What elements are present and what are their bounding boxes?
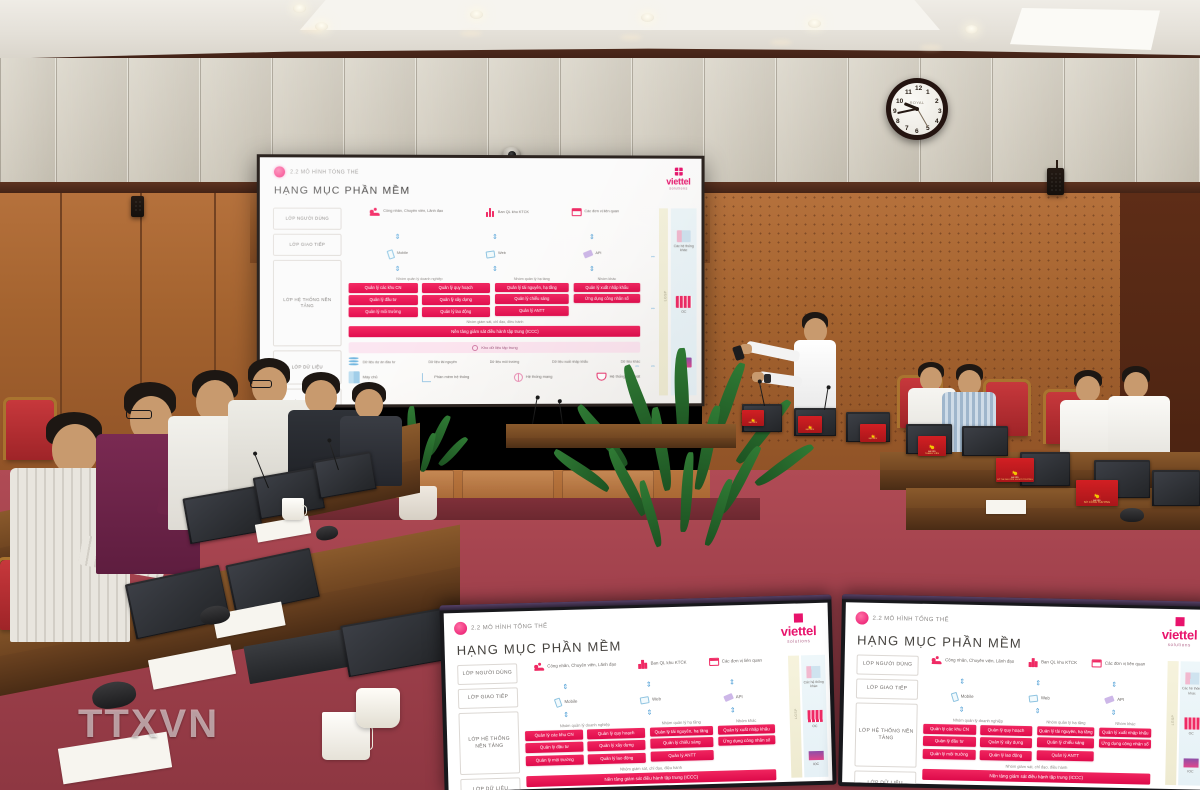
coffee-cup <box>282 498 304 520</box>
nameplate-label: THÀNH VIÊN <box>925 453 939 455</box>
window-icon <box>572 208 582 216</box>
interface-item: API <box>1105 697 1124 704</box>
group-other: Nhóm khác Quản lý xuất nhập khẩu Ứng dụn… <box>574 277 641 319</box>
layer-data: LỚP DỮ LIỆU <box>460 777 521 790</box>
module-chip[interactable]: Quản lý quy hoạch <box>587 728 645 740</box>
module-chip[interactable]: Quản lý xuất nhập khẩu <box>574 283 641 291</box>
module-chip[interactable]: Ứng dụng công nhân số <box>718 736 775 747</box>
double-arrow-icon: ⇕ <box>589 234 595 242</box>
module-chip[interactable]: Quản lý chiếu sáng <box>650 737 713 749</box>
oc-icon <box>807 710 822 722</box>
eyeglasses-icon <box>250 380 272 388</box>
module-chip[interactable]: Quản lý đầu tư <box>525 742 583 754</box>
double-arrow-icon: ⇕ <box>1035 680 1041 688</box>
slide-kicker: 2.2 MÔ HÌNH TỔNG THỂ <box>274 166 359 177</box>
user-actor: Các đơn vị liên quan <box>709 657 762 666</box>
api-icon <box>1104 695 1115 704</box>
group-caption: Nhóm khác <box>1099 721 1151 727</box>
viettel-wordmark: viettel <box>781 623 817 639</box>
network-icon <box>514 372 523 381</box>
viettel-mark-icon <box>675 168 683 176</box>
module-chip[interactable]: Quản lý lao động <box>588 753 646 765</box>
user-layer-row: Công nhân, Chuyên viên, Lãnh đạo Ban QL … <box>349 208 641 234</box>
double-arrow-icon: ⇕ <box>1035 708 1041 716</box>
module-chip[interactable]: Quản lý ANTT <box>495 306 569 316</box>
people-icon <box>534 663 544 671</box>
group-caption: Nhóm khác <box>718 717 775 724</box>
bar-chart-icon <box>638 660 647 669</box>
mobile-icon <box>554 697 563 707</box>
monitor-slide: 2.2 MÔ HÌNH TỔNG THỂ HẠNG MỤC PHẦN MỀM v… <box>444 603 833 790</box>
group-caption: Nhóm quản lý hạ tầng <box>495 277 569 281</box>
user-actor-label: Các đơn vị liên quan <box>722 657 762 664</box>
api-icon <box>723 693 734 702</box>
module-chip[interactable]: Quản lý đầu tư <box>349 295 418 305</box>
emblem-icon <box>751 418 756 423</box>
beam-reflection <box>460 31 482 36</box>
emblem-icon <box>808 425 813 430</box>
module-chip[interactable]: Ứng dụng công nhân số <box>1099 739 1151 749</box>
double-arrow-icon: ⇕ <box>492 234 498 242</box>
lgsp-label: LGSP <box>1171 715 1175 726</box>
ioc-icon <box>808 750 823 759</box>
lgsp-label: LGSP <box>794 708 798 719</box>
downlight <box>470 10 483 19</box>
user-actor: Ban QL khu KTCK <box>1029 658 1077 668</box>
data-item: Dữ liệu tài nguyên <box>428 360 456 364</box>
nameplate: ĐẠI BIỂU SỞ CÔNG THƯƠNG <box>1076 480 1118 506</box>
double-arrow-icon: ⇕ <box>395 266 401 274</box>
attendee-head <box>1076 376 1100 402</box>
monitor-slide: 2.2 MÔ HÌNH TỔNG THỂ HẠNG MỤC PHẦN MỀM v… <box>842 602 1200 790</box>
viettel-mark-icon <box>794 613 803 622</box>
foreground-monitor-left: 2.2 MÔ HÌNH TỔNG THỂ HẠNG MỤC PHẦN MỀM v… <box>439 595 836 790</box>
wall-clock: ROYAL 12 1 2 3 4 5 6 7 8 9 10 11 <box>886 78 948 140</box>
module-chip[interactable]: Ứng dụng công nhân số <box>574 294 641 303</box>
user-actor: Công nhân, Chuyên viên, Lãnh đạo <box>932 656 1014 666</box>
oc-icon <box>1184 718 1199 730</box>
attendee <box>1108 366 1174 464</box>
module-chip[interactable]: Quản lý lao động <box>421 307 490 317</box>
layer-user: LỚP NGƯỜI DÙNG <box>457 663 518 685</box>
external-system: OC <box>1184 718 1199 737</box>
double-arrow-icon: ⇔ <box>650 306 656 312</box>
external-label: IOC <box>808 761 823 766</box>
slide-kicker-text: 2.2 MÔ HÌNH TỔNG THỂ <box>471 623 548 631</box>
nameplate: ĐẠI BIỂU <box>860 424 886 442</box>
interface-label: Web <box>498 251 506 256</box>
interface-label: API <box>1117 697 1124 703</box>
user-actor-label: Các đơn vị liên quan <box>1105 661 1145 668</box>
emblem-icon <box>871 434 876 439</box>
external-system: OC <box>676 296 692 315</box>
group-caption: Nhóm khác <box>574 277 641 281</box>
external-system: Các hệ thống khác <box>801 666 826 690</box>
double-arrow-icon: ⇕ <box>563 712 569 720</box>
window-icon <box>1092 659 1102 667</box>
nameplate: ĐẠI BIỂU <box>742 410 764 426</box>
teapot <box>356 688 400 728</box>
interface-label: API <box>736 694 743 700</box>
head-table-front <box>506 438 736 448</box>
bullet-dot-icon <box>855 611 868 624</box>
external-label: Các hệ thống khác <box>671 244 697 253</box>
wall-speaker <box>131 196 144 217</box>
user-actor: Ban QL khu KTCK <box>486 208 529 217</box>
interface-item: API <box>724 694 743 701</box>
presenter-watch <box>764 374 771 383</box>
database-circle-icon <box>472 345 478 351</box>
user-actor-label: Công nhân, Chuyên viên, Lãnh đạo <box>547 662 616 670</box>
foreground-monitor-right: 2.2 MÔ HÌNH TỔNG THỂ HẠNG MỤC PHẦN MỀM v… <box>838 594 1200 790</box>
emblem-icon <box>1012 470 1019 477</box>
double-arrow-icon: ⇕ <box>729 679 735 687</box>
connector-arrows-mid: ⇕ ⇕ ⇕ <box>349 266 641 274</box>
external-label: Các hệ thống khác <box>802 680 826 690</box>
agency-watermark: TTXVN <box>78 702 219 747</box>
module-chip[interactable]: Quản lý xuất nhập khẩu <box>718 724 775 735</box>
double-arrow-icon: ⇕ <box>730 707 736 715</box>
eyeglasses-icon <box>126 410 152 419</box>
external-system: IOC <box>808 750 823 766</box>
external-system: Các hệ thống khác <box>1180 672 1200 696</box>
data-item: Dữ liệu xuất nhập khẩu <box>552 359 588 363</box>
layer-user: LỚP NGƯỜI DÙNG <box>273 208 342 230</box>
group-caption: Nhóm quản lý hạ tầng <box>1037 719 1094 725</box>
external-system: OC <box>807 710 823 729</box>
laptop[interactable] <box>1152 470 1200 508</box>
nameplate: ĐẠI BIỂU THÀNH VIÊN <box>918 436 946 456</box>
conference-room-photo: ROYAL 12 1 2 3 4 5 6 7 8 9 10 11 <box>0 0 1200 790</box>
external-system: Các hệ thống khác <box>671 230 697 253</box>
downlight <box>641 13 654 22</box>
double-arrow-icon: ⇕ <box>959 707 965 715</box>
slide-kicker-text: 2.2 MÔ HÌNH TỔNG THỂ <box>290 169 359 175</box>
data-item: Dữ liệu môi trường <box>490 359 519 363</box>
downlight <box>965 25 978 34</box>
viettel-tagline: solutions <box>781 638 817 644</box>
slide-kicker: 2.2 MÔ HÌNH TỔNG THỂ <box>855 611 949 626</box>
downlight <box>293 4 306 13</box>
user-actor-label: Ban QL khu KTCK <box>650 660 686 667</box>
mobile-icon <box>950 691 958 701</box>
interface-label: Mobile <box>397 251 408 256</box>
external-label: IOC <box>1183 770 1198 775</box>
lgsp-label: LGSP <box>663 291 667 302</box>
people-icon <box>370 208 380 216</box>
group-caption: Nhóm quản lý doanh nghiệp <box>923 717 1032 724</box>
viettel-wordmark: viettel <box>666 177 690 187</box>
external-label: OC <box>676 310 692 315</box>
infra-label: Máy chủ <box>363 375 378 381</box>
data-warehouse-label: Kho dữ liệu tập trung <box>481 345 517 350</box>
user-actor: Công nhân, Chuyên viên, Lãnh đạo <box>370 208 443 216</box>
system-software-icon <box>422 373 431 382</box>
module-chip[interactable]: Quản lý lao động <box>979 750 1032 761</box>
module-chip[interactable]: Quản lý các khu CN <box>349 283 418 293</box>
interface-item: Mobile <box>952 692 974 701</box>
module-chip[interactable]: Quản lý quy hoạch <box>980 725 1033 736</box>
external-systems-column: Các hệ thống khác OC IOC <box>801 655 828 778</box>
double-arrow-icon: ⇕ <box>1111 682 1117 690</box>
attendee-head <box>355 389 383 419</box>
clock-center-pin <box>915 107 919 111</box>
module-chip[interactable]: Quản lý ANTT <box>1037 750 1094 761</box>
beam-reflection <box>920 45 942 50</box>
people-icon <box>932 656 942 664</box>
emblem-icon <box>929 444 936 451</box>
double-arrow-icon: ⇕ <box>1111 710 1117 718</box>
double-arrow-icon: ⇕ <box>562 684 568 692</box>
module-chip[interactable]: Quản lý chiếu sáng <box>1037 738 1094 749</box>
attendee-head <box>1124 372 1148 398</box>
presenter-torso <box>794 340 836 412</box>
beam-reflection <box>620 35 642 40</box>
double-arrow-icon: ⇕ <box>395 234 401 242</box>
viettel-tagline: solutions <box>666 186 690 190</box>
double-arrow-icon: ⇕ <box>646 710 652 718</box>
module-chip[interactable]: Quản lý xây dựng <box>587 740 645 752</box>
beam-reflection <box>770 40 792 45</box>
wood-seam <box>60 193 62 443</box>
module-chip[interactable]: Quản lý môi trường <box>349 307 418 317</box>
infra-item: Phần mềm hệ thống <box>422 373 469 382</box>
layer-interface: LỚP GIAO TIẾP <box>273 234 342 256</box>
interface-item: Web <box>640 696 661 704</box>
layer-interface: LỚP GIAO TIẾP <box>458 687 519 709</box>
attendee-head <box>52 424 98 474</box>
window-icon <box>709 658 719 666</box>
interface-item: API <box>584 251 602 257</box>
other-systems-icon <box>806 666 820 678</box>
interface-item: Web <box>1029 695 1050 702</box>
user-actor: Các đơn vị liên quan <box>1092 659 1145 668</box>
layer-platform: LỚP HỆ THỐNG NỀN TẢNG <box>458 711 520 775</box>
monitor-group-caption: Nhóm giám sát, chỉ đạo, điều hành <box>349 320 641 324</box>
interface-item: Mobile <box>388 249 408 258</box>
double-arrow-icon: ⇕ <box>589 266 595 274</box>
viettel-mark-icon <box>1175 617 1184 626</box>
module-chip[interactable]: Quản lý xây dựng <box>979 737 1032 748</box>
external-systems-column: Các hệ thống khác OC IOC <box>1178 661 1200 785</box>
group-caption: Nhóm quản lý doanh nghiệp <box>349 277 490 281</box>
infra-label: Phần mềm hệ thống <box>434 374 469 380</box>
clock-second-hand <box>917 109 928 128</box>
interface-layer-row: Mobile Web API <box>349 242 641 266</box>
interface-label: Mobile <box>564 699 577 706</box>
layer-platform: LỚP HỆ THỐNG NỀN TẢNG <box>854 702 917 767</box>
user-actor: Ban QL khu KTCK <box>638 659 686 669</box>
module-chip[interactable]: Quản lý ANTT <box>651 750 714 762</box>
group-caption: Nhóm quản lý hạ tầng <box>650 719 713 726</box>
double-arrow-icon: ⇔ <box>650 254 656 260</box>
presenter-pointing-arm <box>745 341 800 363</box>
other-systems-icon <box>677 230 691 242</box>
user-actor-label: Ban QL khu KTCK <box>498 210 529 215</box>
module-chip[interactable]: Quản lý xuất nhập khẩu <box>1099 728 1151 738</box>
bullet-dot-icon <box>454 622 467 635</box>
beam-reflection <box>300 28 322 33</box>
double-arrow-icon: ⇕ <box>959 679 965 687</box>
viettel-logo: viettel solutions <box>780 613 816 644</box>
interface-item: Web <box>486 251 506 258</box>
viettel-wordmark: viettel <box>1162 627 1198 643</box>
web-icon <box>1028 694 1038 702</box>
interface-label: API <box>595 251 601 256</box>
downlight <box>808 19 821 28</box>
bar-chart-icon <box>486 208 495 217</box>
computer-mouse[interactable] <box>1120 508 1144 522</box>
bar-chart-icon <box>1029 658 1038 667</box>
document-paper <box>986 500 1026 514</box>
nameplate: ĐẠI BIỂU <box>798 416 822 433</box>
database-icon <box>349 357 359 366</box>
iccc-platform-bar[interactable]: Nền tảng giám sát điều hành tập trung (I… <box>349 326 641 337</box>
infra-item: Hệ thống mạng <box>514 372 552 381</box>
module-chip[interactable]: Quản lý tài nguyên, hạ tầng <box>650 726 713 737</box>
data-item: Dữ liệu dự án đầu tư <box>363 360 396 364</box>
user-actor: Công nhân, Chuyên viên, Lãnh đạo <box>534 661 616 671</box>
api-icon <box>583 250 594 259</box>
clock-face: ROYAL 12 1 2 3 4 5 6 7 8 9 10 11 <box>891 83 943 135</box>
ioc-icon <box>1183 759 1198 768</box>
module-chip[interactable]: Quản lý tài nguyên, hạ tầng <box>1037 726 1094 736</box>
nameplate-label: SỞ CÔNG THƯƠNG <box>1084 502 1110 505</box>
external-label: OC <box>1184 732 1199 737</box>
module-chip[interactable]: Quản lý tài nguyên, hạ tầng <box>495 283 569 292</box>
watermark-text: TTXVN <box>78 702 219 746</box>
module-chip[interactable]: Quản lý môi trường <box>923 749 976 760</box>
user-actor: Các đơn vị liên quan <box>572 208 619 216</box>
double-arrow-icon: ⇕ <box>646 682 652 690</box>
wall-speaker <box>1047 168 1064 195</box>
user-actor-label: Công nhân, Chuyên viên, Lãnh đạo <box>945 657 1014 665</box>
double-arrow-icon: ⇕ <box>492 266 498 274</box>
slide-title: HẠNG MỤC PHẦN MỀM <box>857 632 1022 650</box>
nameplate: ĐẠI BIỂU SỞ TÀI NGUYÊN VÀ MÔI TRƯỜNG <box>996 458 1034 482</box>
interface-label: Web <box>1041 695 1050 701</box>
mobile-icon <box>387 249 396 259</box>
viettel-logo: viettel solutions <box>666 168 690 191</box>
user-actor-label: Công nhân, Chuyên viên, Lãnh đạo <box>383 209 443 214</box>
viettel-logo: viettel solutions <box>1162 617 1198 648</box>
module-chip[interactable]: Quản lý chiếu sáng <box>495 294 569 304</box>
user-actor-label: Ban QL khu KTCK <box>1041 660 1077 667</box>
lgsp-rail: LGSP <box>1165 661 1179 785</box>
layer-platform: LỚP HỆ THỐNG NỀN TẢNG <box>273 260 342 346</box>
bullet-dot-icon <box>274 166 285 177</box>
group-enterprise: Nhóm quản lý doanh nghiệp Quản lý các kh… <box>349 277 490 319</box>
module-chip[interactable]: Quản lý quy hoạch <box>421 283 490 293</box>
web-icon <box>640 696 650 704</box>
iccc-platform-bar[interactable]: Nền tảng giám sát điều hành tập trung (I… <box>922 769 1150 785</box>
module-chip[interactable]: Quản lý đầu tư <box>923 736 976 747</box>
nameplate-label: SỞ TÀI NGUYÊN VÀ MÔI TRƯỜNG <box>997 479 1033 481</box>
slide-title: HẠNG MỤC PHẦN MỀM <box>274 184 410 196</box>
lgsp-rail: LGSP <box>788 655 802 777</box>
laptop[interactable] <box>962 426 1008 458</box>
platform-groups: Nhóm quản lý doanh nghiệp Quản lý các kh… <box>349 277 641 319</box>
module-chip[interactable]: Quản lý môi trường <box>526 754 584 766</box>
attendee-head <box>305 380 337 414</box>
slide-kicker-text: 2.2 MÔ HÌNH TỔNG THỂ <box>872 615 949 623</box>
ceiling-light-panel <box>1010 8 1160 50</box>
layer-interface: LỚP GIAO TIẾP <box>856 678 918 699</box>
module-chip[interactable]: Quản lý các khu CN <box>525 730 583 742</box>
interface-label: Web <box>652 696 661 702</box>
module-chip[interactable]: Quản lý các khu CN <box>923 724 976 735</box>
ceiling-recess <box>300 0 940 30</box>
other-systems-icon <box>1185 672 1199 684</box>
infra-label: Hệ thống mạng <box>526 374 553 380</box>
interface-item: Mobile <box>555 697 577 707</box>
web-icon <box>486 250 496 258</box>
interface-label: Mobile <box>961 694 974 700</box>
external-system: IOC <box>1183 759 1198 775</box>
module-chip[interactable]: Quản lý xây dựng <box>421 295 490 305</box>
oc-icon <box>676 296 692 308</box>
viettel-tagline: solutions <box>1162 642 1198 648</box>
group-infrastructure: Nhóm quản lý hạ tầng Quản lý tài nguyên,… <box>495 277 569 319</box>
right-table-lower-front <box>906 508 1200 530</box>
external-label: Các hệ thống khác <box>1180 686 1200 696</box>
external-label: OC <box>807 724 822 729</box>
user-actor-label: Các đơn vị liên quan <box>584 210 619 215</box>
slide-kicker: 2.2 MÔ HÌNH TỔNG THỂ <box>454 620 548 636</box>
slide-title: HẠNG MỤC PHẦN MỀM <box>456 638 621 658</box>
layer-user: LỚP NGƯỜI DÙNG <box>856 654 918 675</box>
